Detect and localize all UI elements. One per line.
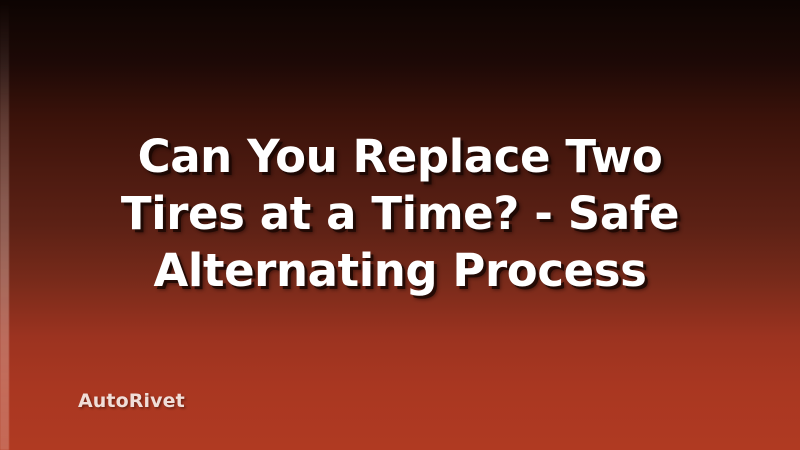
page-title-line-1: Can You Replace Two <box>40 128 760 185</box>
brand-name: AutoRivet <box>78 390 185 412</box>
page-title: Can You Replace Two Tires at a Time? - S… <box>0 128 800 299</box>
article-banner: Can You Replace Two Tires at a Time? - S… <box>0 0 800 450</box>
page-title-line-2: Tires at a Time? - Safe <box>40 185 760 242</box>
page-title-line-3: Alternating Process <box>40 242 760 299</box>
